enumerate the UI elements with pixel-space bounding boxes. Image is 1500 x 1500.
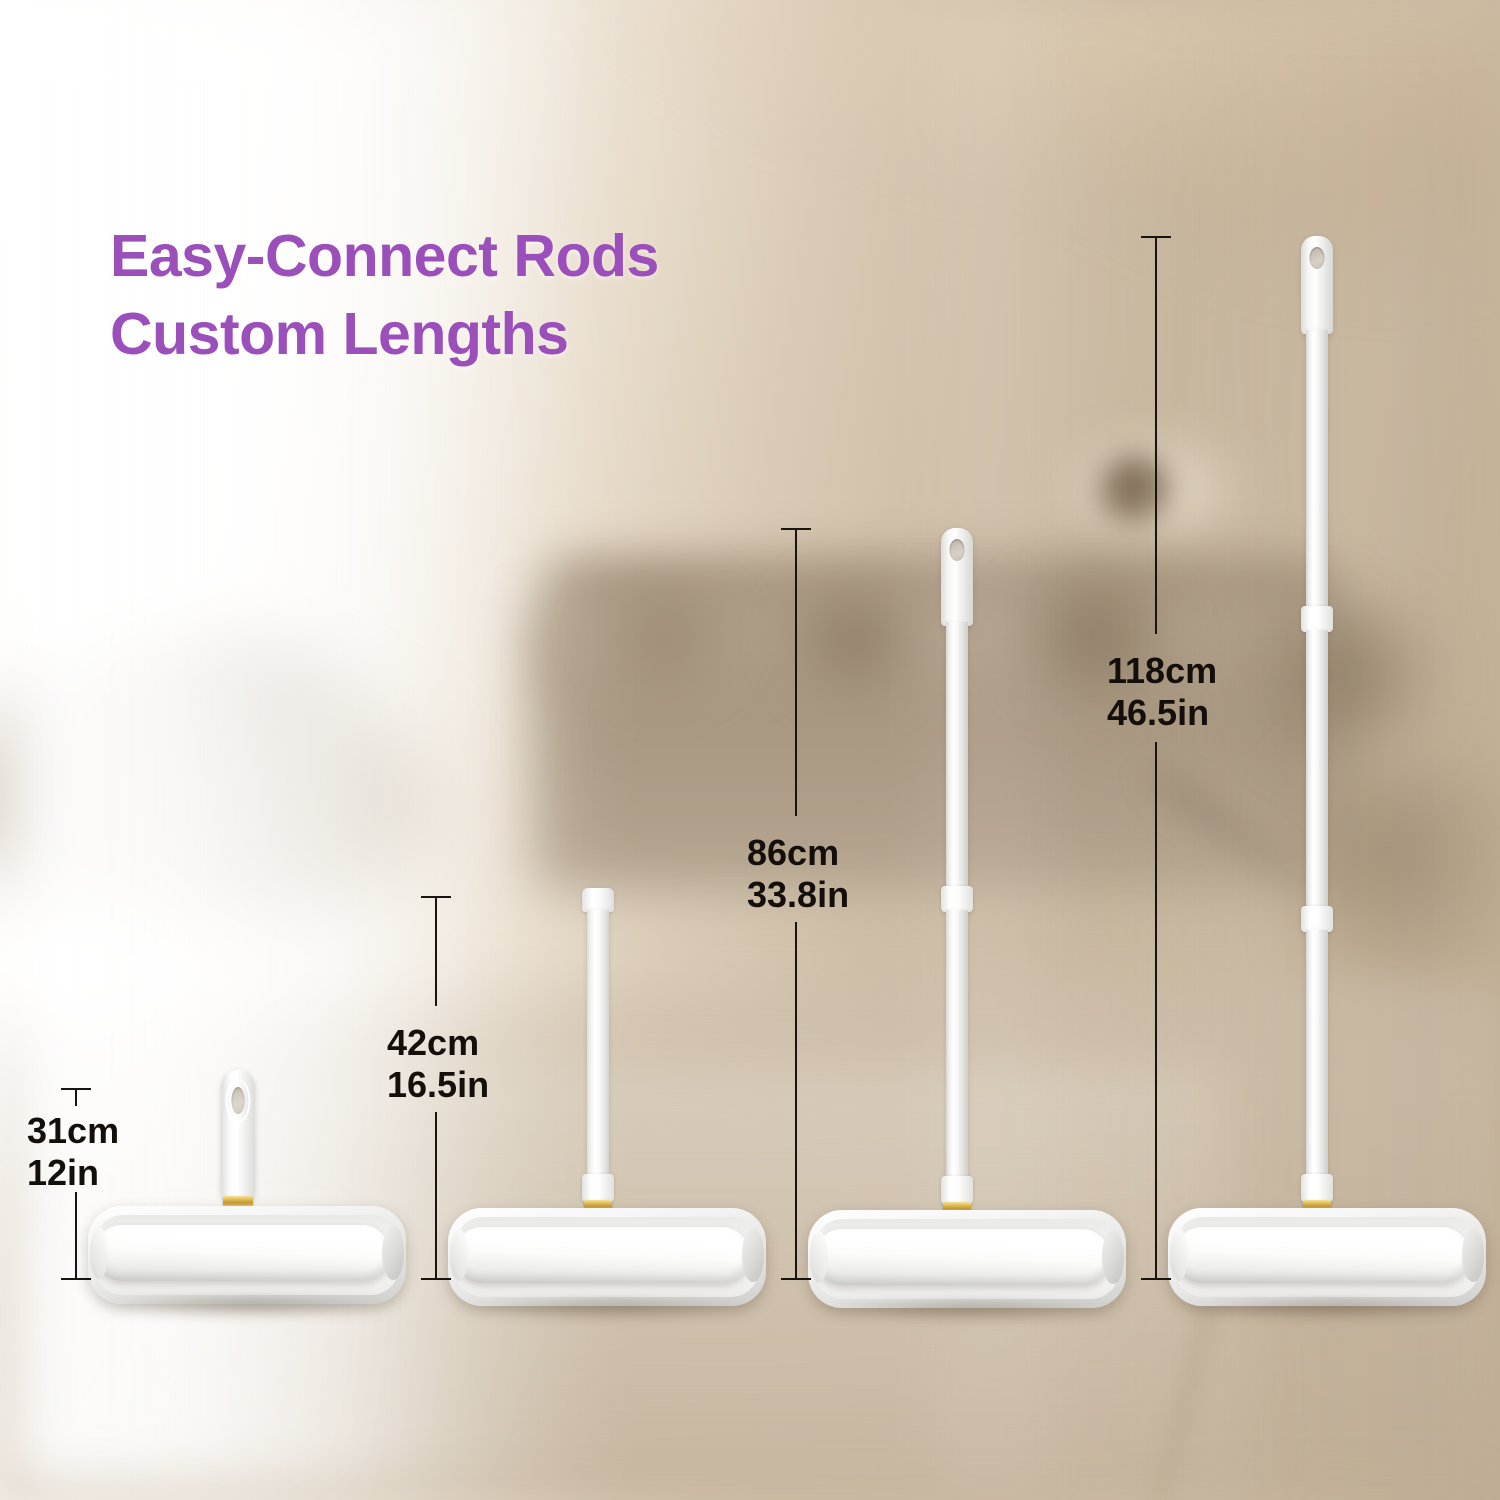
- dimension-line-upper: [795, 528, 797, 816]
- pole-grip-cap[interactable]: [941, 528, 973, 626]
- extension-rod-1[interactable]: [946, 622, 968, 890]
- hang-hole: [232, 1087, 245, 1114]
- headline-line-1: Easy-Connect Rods: [110, 223, 659, 289]
- headline: Easy-Connect Rods Custom Lengths: [110, 140, 659, 452]
- roller-end-cap-right: [1462, 1228, 1484, 1282]
- dimension-label-42cm: 42cm 16.5in: [387, 1022, 489, 1107]
- product-roller-handheld[interactable]: [88, 1070, 418, 1290]
- roller-head[interactable]: [808, 1210, 1126, 1308]
- dimension-line-upper: [75, 1088, 77, 1106]
- sticky-roller: [94, 1225, 390, 1281]
- dimension-value-cm: 118cm: [1107, 650, 1217, 692]
- rod-top-cap: [582, 888, 614, 912]
- dimension-value-in: 12in: [27, 1152, 119, 1194]
- dimension-value-cm: 42cm: [387, 1022, 489, 1064]
- extension-rod-1[interactable]: [587, 910, 609, 1178]
- sticky-roller: [454, 1227, 750, 1283]
- dimension-line-upper: [1155, 236, 1157, 634]
- hang-hole: [1310, 247, 1325, 269]
- dimension-label-118cm: 118cm 46.5in: [1107, 650, 1217, 735]
- roller-shadow: [1178, 1300, 1482, 1322]
- dimension-cap-bottom: [61, 1278, 91, 1280]
- dimension-line-lower: [795, 922, 797, 1280]
- dimension-value-in: 16.5in: [387, 1064, 489, 1106]
- dimension-value-cm: 31cm: [27, 1110, 119, 1152]
- dimension-cap-bottom: [1141, 1278, 1171, 1280]
- extension-rod-1[interactable]: [1306, 330, 1328, 612]
- sticky-roller: [814, 1229, 1110, 1285]
- rod-joint-collar-2: [1301, 906, 1333, 932]
- grip-handle[interactable]: [221, 1070, 255, 1198]
- dimension-cap-bottom: [781, 1278, 811, 1280]
- headline-line-2: Custom Lengths: [110, 296, 659, 374]
- dimension-annotation-31cm: 31cm 12in: [75, 1088, 77, 1280]
- dimension-label-31cm: 31cm 12in: [27, 1110, 119, 1195]
- extension-rod-3[interactable]: [1306, 930, 1328, 1178]
- dimension-annotation-118cm: 118cm 46.5in: [1155, 236, 1157, 1280]
- dimension-line-lower: [75, 1192, 77, 1280]
- hang-hole: [950, 539, 965, 561]
- rod-bottom-collar: [582, 1174, 614, 1202]
- rod-joint-collar-1: [1301, 606, 1333, 632]
- rod-joint-collar: [941, 886, 973, 912]
- roller-end-cap-right: [742, 1228, 764, 1282]
- dimension-annotation-42cm: 42cm 16.5in: [435, 896, 437, 1280]
- roller-end-cap-left: [1170, 1229, 1188, 1281]
- extension-rod-2[interactable]: [946, 910, 968, 1180]
- dimension-value-in: 33.8in: [747, 874, 849, 916]
- roller-end-cap-left: [450, 1229, 468, 1281]
- product-roller-three-rods[interactable]: [1168, 236, 1498, 1288]
- product-image-canvas: Easy-Connect Rods Custom Lengths 31cm 12…: [0, 0, 1500, 1500]
- product-roller-two-rods[interactable]: [808, 528, 1138, 1288]
- roller-head[interactable]: [88, 1206, 406, 1304]
- dimension-value-cm: 86cm: [747, 832, 849, 874]
- extension-rod-2[interactable]: [1306, 630, 1328, 912]
- rod-bottom-collar: [941, 1176, 973, 1204]
- sticky-roller: [1174, 1227, 1470, 1283]
- roller-shadow: [818, 1302, 1122, 1324]
- dimension-annotation-86cm: 86cm 33.8in: [795, 528, 797, 1280]
- roller-head[interactable]: [448, 1208, 766, 1306]
- dimension-line-lower: [435, 1112, 437, 1280]
- roller-end-cap-right: [1102, 1230, 1124, 1284]
- dimension-label-86cm: 86cm 33.8in: [747, 832, 849, 917]
- dimension-line-lower: [1155, 742, 1157, 1280]
- roller-end-cap-left: [90, 1227, 108, 1279]
- roller-head[interactable]: [1168, 1208, 1486, 1306]
- dimension-line-upper: [435, 896, 437, 1006]
- product-roller-one-rod[interactable]: [448, 888, 778, 1288]
- rod-bottom-collar: [1301, 1174, 1333, 1202]
- roller-end-cap-left: [810, 1231, 828, 1283]
- roller-shadow: [98, 1298, 402, 1320]
- dimension-cap-bottom: [421, 1278, 451, 1280]
- dimension-value-in: 46.5in: [1107, 692, 1217, 734]
- pole-grip-cap[interactable]: [1301, 236, 1333, 334]
- roller-shadow: [458, 1300, 762, 1322]
- roller-end-cap-right: [382, 1226, 404, 1280]
